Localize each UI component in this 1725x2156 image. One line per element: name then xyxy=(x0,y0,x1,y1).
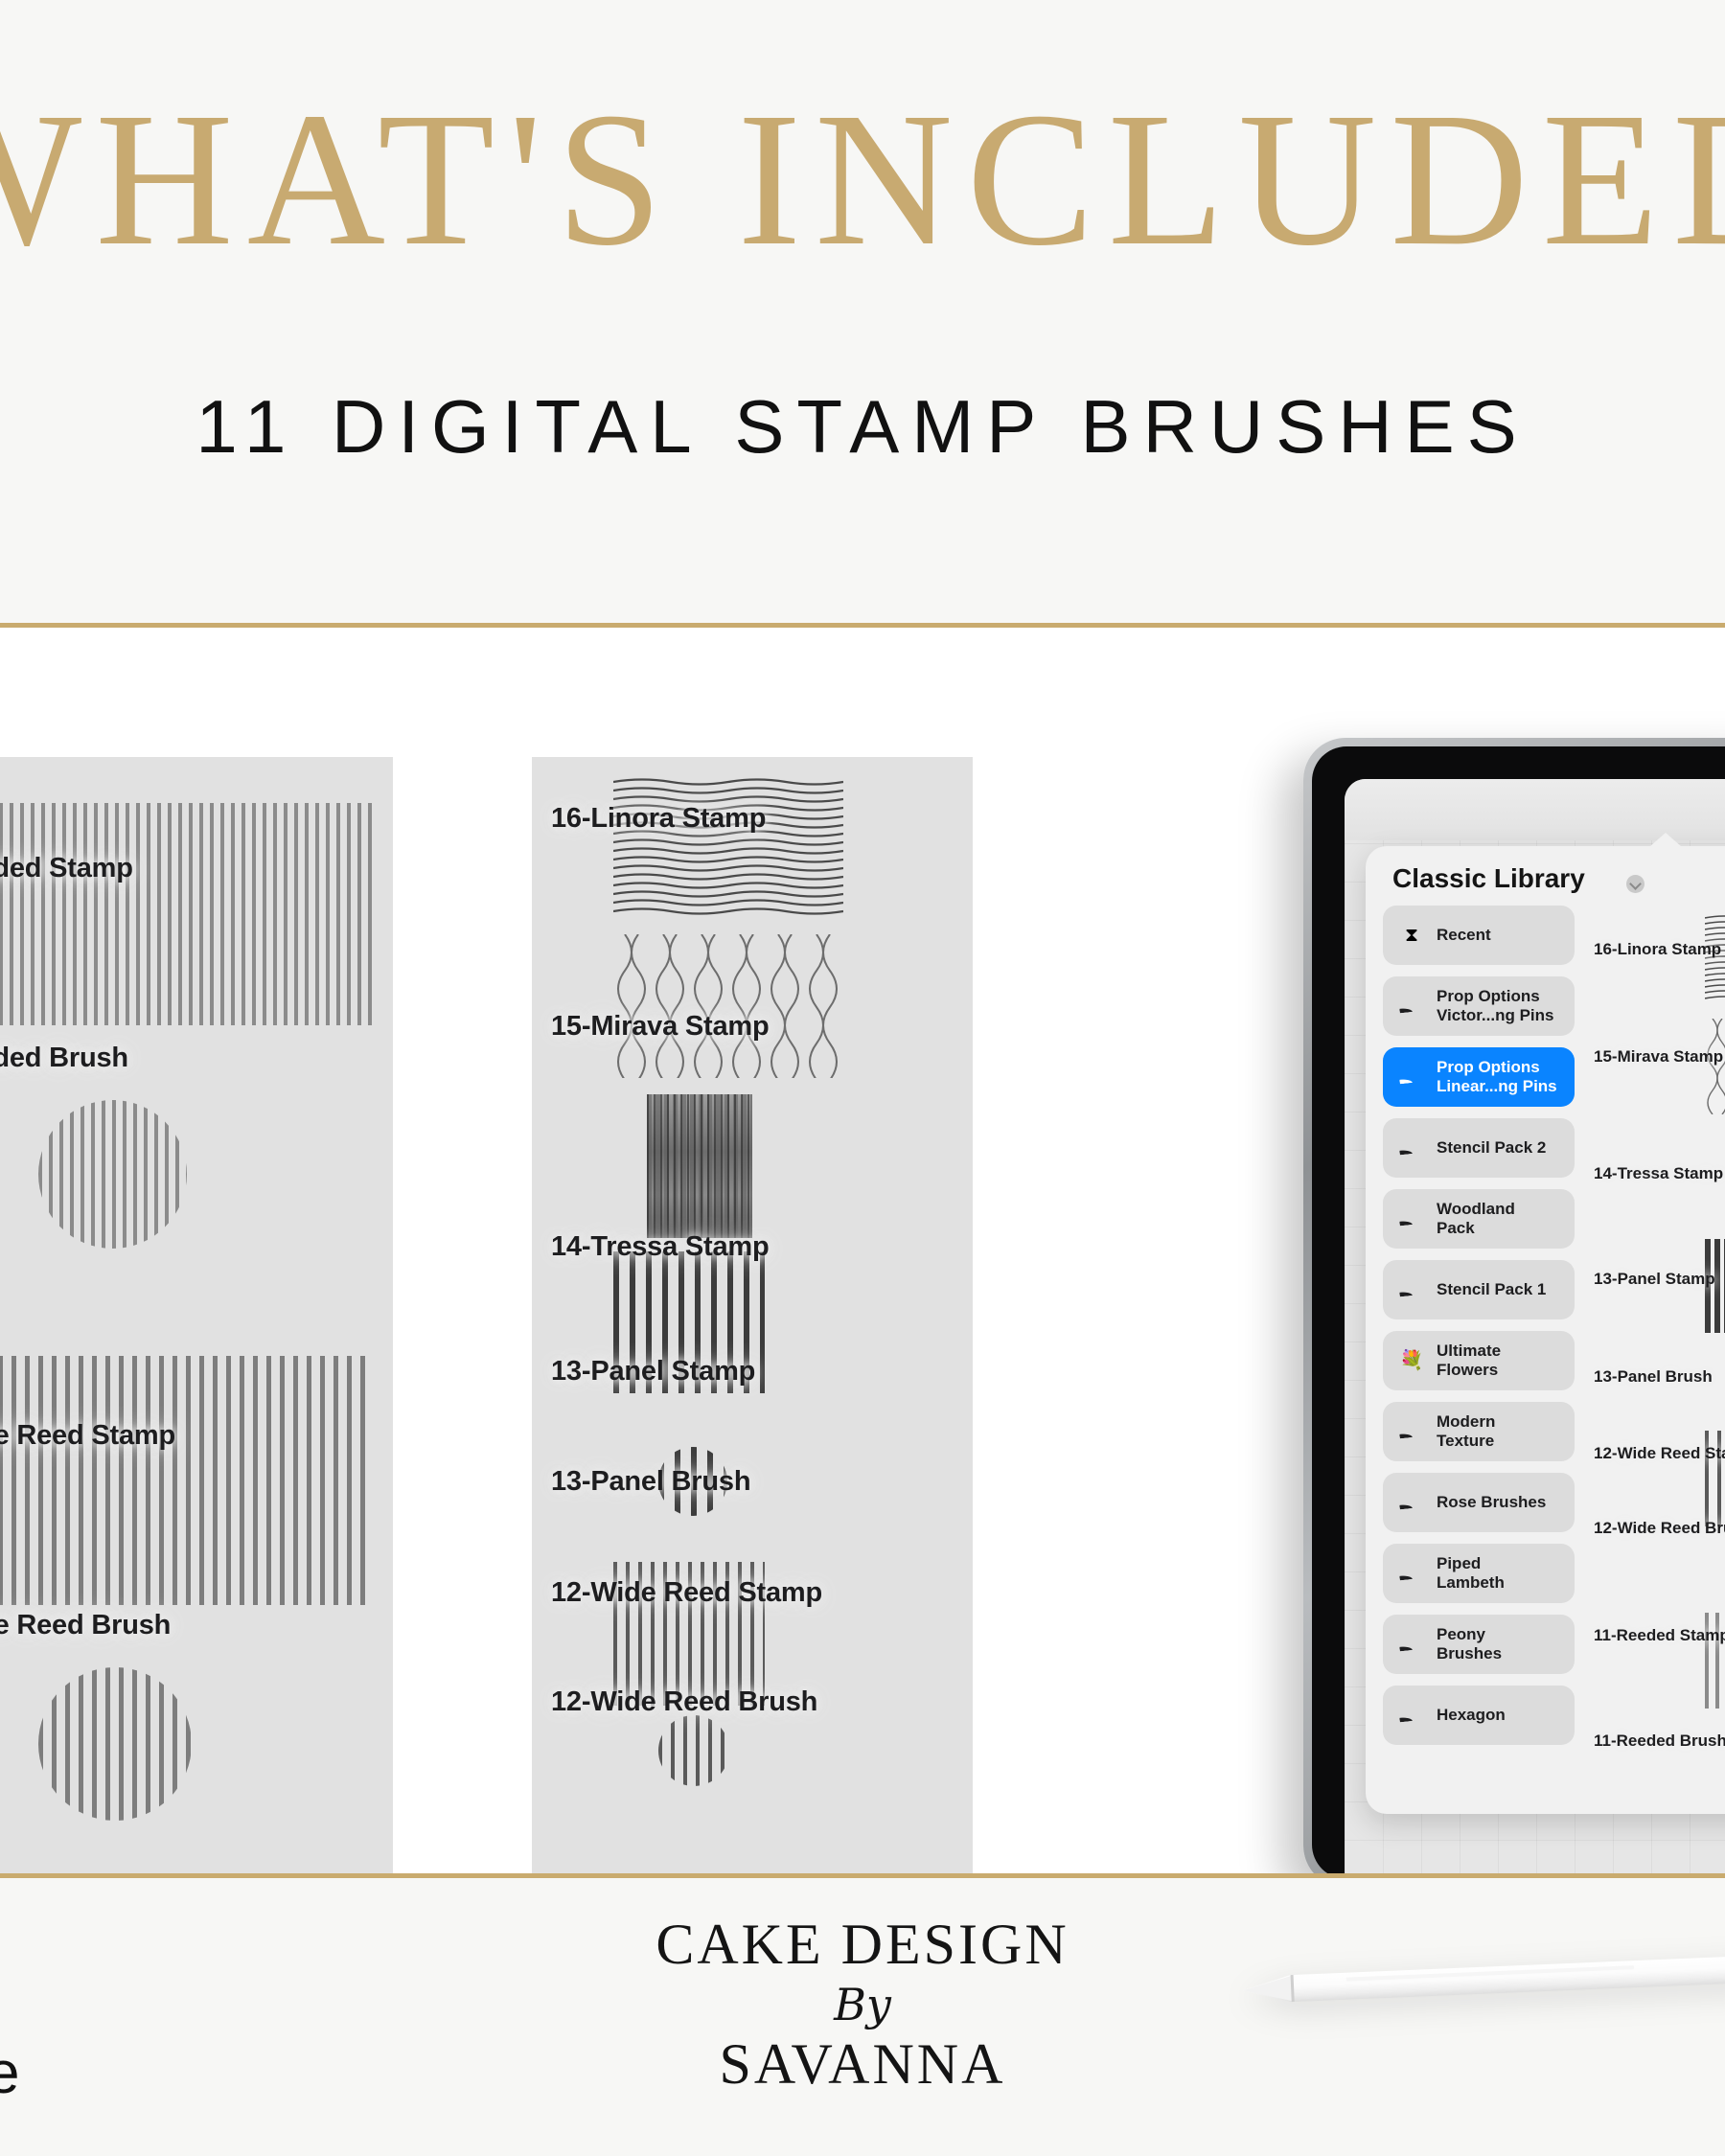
pb-label-0: 16-Linora Stamp xyxy=(1594,940,1721,959)
pb-label-4: 13-Panel Brush xyxy=(1594,1367,1713,1387)
mid-row-label-0: 16-Linora Stamp xyxy=(551,803,766,835)
brand-line-3: SAVANNA xyxy=(655,2034,1069,2095)
brush-icon xyxy=(1398,1138,1425,1158)
mid-row-label-5: 12-Wide Reed Stamp xyxy=(551,1577,822,1609)
library-item-rose-brushes[interactable]: Rose Brushes xyxy=(1383,1473,1575,1532)
library-item-hexagon[interactable]: Hexagon xyxy=(1383,1686,1575,1745)
brush-icon xyxy=(1398,1280,1425,1299)
left-row-label-0: 11-Reeded Stamp xyxy=(0,853,133,884)
ipad-device: Classic Library ⧗ Recent Prop Options Vi… xyxy=(1303,738,1725,1873)
brush-icon xyxy=(1398,997,1425,1016)
library-item-stencil-pack-1[interactable]: Stencil Pack 1 xyxy=(1383,1260,1575,1319)
library-item-label: Recent xyxy=(1437,926,1491,945)
pb-label-6: 12-Wide Reed Brush xyxy=(1594,1519,1725,1538)
library-item-recent[interactable]: ⧗ Recent xyxy=(1383,906,1575,965)
pb-label-5: 12-Wide Reed Stamp xyxy=(1594,1444,1725,1463)
left-preview-panel: 11-Reeded Stamp 11-Reeded Brush 12-Wide … xyxy=(0,757,393,1873)
brush-icon xyxy=(1398,1706,1425,1725)
main-content: 11-Reeded Stamp 11-Reeded Brush 12-Wide … xyxy=(0,632,1725,1873)
left-row-label-2: 12-Wide Reed Stamp xyxy=(0,1420,175,1452)
brand-line-1: CAKE DESIGN xyxy=(655,1915,1069,1975)
pb-swatch-linora xyxy=(1705,913,1725,1005)
brush-icon xyxy=(1398,1635,1425,1654)
mid-row-label-1: 15-Mirava Stamp xyxy=(551,1011,770,1043)
pb-label-7: 11-Reeded Stamp xyxy=(1594,1626,1725,1645)
brush-icon xyxy=(1398,1422,1425,1441)
brush-icon xyxy=(1398,1209,1425,1228)
chevron-down-icon[interactable] xyxy=(1626,875,1644,893)
swatch-reeded-stamp xyxy=(0,803,374,1025)
mid-row-label-6: 12-Wide Reed Brush xyxy=(551,1686,817,1718)
library-item-label: Modern Texture xyxy=(1437,1412,1495,1451)
popover-arrow xyxy=(1649,833,1682,847)
mid-row-label-2: 14-Tressa Stamp xyxy=(551,1231,770,1263)
brush-icon xyxy=(1398,1564,1425,1583)
brush-icon xyxy=(1398,1067,1425,1087)
swatch-wide-reed-brush-mid xyxy=(658,1715,729,1786)
library-item-label: Stencil Pack 2 xyxy=(1437,1138,1546,1158)
brush-preview-list[interactable]: 16-Linora Stamp xyxy=(1588,906,1725,1814)
library-list[interactable]: ⧗ Recent Prop Options Victor...ng Pins P… xyxy=(1383,906,1575,1814)
pb-label-1: 15-Mirava Stamp xyxy=(1594,1047,1723,1067)
swatch-linora-stamp xyxy=(613,776,843,918)
left-row-label-3: 12-Wide Reed Brush xyxy=(0,1610,171,1641)
pb-label-3: 13-Panel Stamp xyxy=(1594,1270,1715,1289)
brand-line-2: By xyxy=(655,1977,1069,2034)
middle-preview-panel: 16-Linora Stamp xyxy=(532,757,973,1873)
library-item-label: Ultimate Flowers xyxy=(1437,1342,1501,1380)
hourglass-icon: ⧗ xyxy=(1398,926,1425,945)
library-item-woodland-pack[interactable]: Woodland Pack xyxy=(1383,1189,1575,1249)
procreate-canvas: Classic Library ⧗ Recent Prop Options Vi… xyxy=(1345,779,1725,1873)
swatch-wide-reed-stamp xyxy=(0,1356,374,1605)
procreate-toolbar xyxy=(1345,779,1725,840)
header-band: WHAT'S INCLUDED 11 DIGITAL STAMP BRUSHES xyxy=(0,0,1725,628)
swatch-tressa-stamp xyxy=(647,1094,752,1238)
library-item-label: Rose Brushes xyxy=(1437,1493,1546,1512)
swatch-mirava-stamp xyxy=(613,934,843,1078)
footer-band: CAKE DESIGN By SAVANNA xyxy=(0,1873,1725,2156)
library-item-label: Prop Options Linear...ng Pins xyxy=(1437,1058,1557,1096)
library-item-prop-options-victorian[interactable]: Prop Options Victor...ng Pins xyxy=(1383,976,1575,1036)
library-item-stencil-pack-2[interactable]: Stencil Pack 2 xyxy=(1383,1118,1575,1178)
library-item-prop-options-linear[interactable]: Prop Options Linear...ng Pins xyxy=(1383,1047,1575,1107)
library-item-label: Piped Lambeth xyxy=(1437,1554,1505,1593)
brush-library-popover: Classic Library ⧗ Recent Prop Options Vi… xyxy=(1366,846,1725,1814)
pb-label-2: 14-Tressa Stamp xyxy=(1594,1164,1723,1183)
swatch-reeded-brush xyxy=(38,1100,187,1249)
library-item-label: Stencil Pack 1 xyxy=(1437,1280,1546,1299)
library-item-label: Hexagon xyxy=(1437,1706,1506,1725)
pb-label-8: 11-Reeded Brush xyxy=(1594,1732,1725,1751)
popover-title: Classic Library xyxy=(1392,863,1585,894)
library-item-piped-lambeth[interactable]: Piped Lambeth xyxy=(1383,1544,1575,1603)
bouquet-icon: 💐 xyxy=(1398,1351,1425,1370)
swatch-wide-reed-brush xyxy=(38,1667,192,1821)
brush-icon xyxy=(1398,1493,1425,1512)
brand-block: CAKE DESIGN By SAVANNA xyxy=(655,1915,1069,2095)
left-row-label-1: 11-Reeded Brush xyxy=(0,1043,128,1074)
library-item-label: Woodland Pack xyxy=(1437,1200,1515,1238)
library-item-modern-texture[interactable]: Modern Texture xyxy=(1383,1402,1575,1461)
library-item-label: Prop Options Victor...ng Pins xyxy=(1437,987,1554,1025)
library-item-ultimate-flowers[interactable]: 💐 Ultimate Flowers xyxy=(1383,1331,1575,1390)
corner-letter: e xyxy=(0,2039,19,2107)
page-title: WHAT'S INCLUDED xyxy=(0,84,1725,276)
page-subtitle: 11 DIGITAL STAMP BRUSHES xyxy=(195,383,1529,470)
ipad-screen: Classic Library ⧗ Recent Prop Options Vi… xyxy=(1312,746,1725,1873)
pb-swatch-mirava xyxy=(1705,1019,1725,1114)
mid-row-label-4: 13-Panel Brush xyxy=(551,1466,750,1498)
library-item-peony-brushes[interactable]: Peony Brushes xyxy=(1383,1615,1575,1674)
library-item-label: Peony Brushes xyxy=(1437,1625,1502,1663)
mid-row-label-3: 13-Panel Stamp xyxy=(551,1356,755,1388)
